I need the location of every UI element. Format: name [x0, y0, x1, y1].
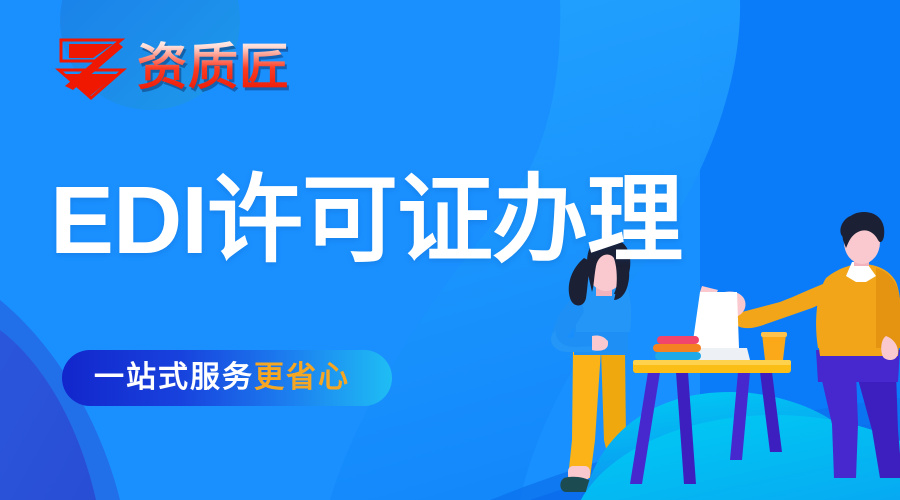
book-orange	[653, 344, 701, 352]
brand-logo[interactable]: 资质匠	[55, 33, 290, 101]
subtitle-primary: 一站式服务	[94, 361, 254, 395]
subtitle-accent: 更省心	[254, 361, 350, 395]
book-blue	[655, 352, 701, 360]
promo-banner: 资质匠 EDI许可证办理 一站式服务 更省心	[0, 0, 900, 500]
book-pink	[657, 336, 699, 344]
laptop-screen	[692, 292, 739, 348]
brand-wordmark: 资质匠	[137, 36, 290, 98]
book-stack	[653, 336, 701, 360]
coffee-cup	[761, 332, 787, 360]
page-title: EDI许可证办理	[50, 168, 682, 274]
subtitle-pill: 一站式服务 更省心	[62, 350, 392, 406]
z-triangle-logo-mark	[55, 34, 127, 100]
desk-top-highlight	[633, 360, 791, 365]
